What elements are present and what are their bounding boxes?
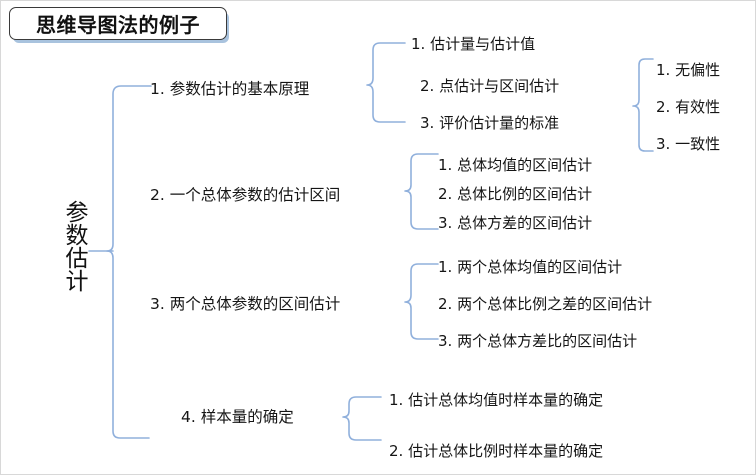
branch-2-child-2[interactable]: 2. 总体比例的区间估计 — [438, 183, 592, 204]
branch-4-child-1[interactable]: 1. 估计总体均值时样本量的确定 — [389, 389, 603, 410]
branch-4-bracket — [343, 397, 381, 440]
main-bracket — [107, 86, 151, 438]
diagram-title-card: 思维导图法的例子 — [9, 7, 227, 40]
branch-1-bracket — [367, 43, 405, 122]
page-title: 思维导图法的例子 — [36, 9, 200, 38]
branch-4-child-2[interactable]: 2. 估计总体比例时样本量的确定 — [389, 440, 603, 461]
mindmap-canvas: 思维导图法的例子 参数估计 1. 参数估计的基本原理 2. 一个总体参数的估计区… — [0, 0, 756, 475]
branch-label-3[interactable]: 3. 两个总体参数的区间估计 — [150, 292, 340, 314]
branch-1-3-child-2[interactable]: 2. 有效性 — [656, 96, 720, 117]
branch-2-bracket — [405, 154, 438, 229]
branch-1-3-child-3[interactable]: 3. 一致性 — [656, 133, 720, 154]
branch-3-bracket — [405, 264, 438, 339]
branch-3-child-1[interactable]: 1. 两个总体均值的区间估计 — [438, 256, 622, 277]
branch-2-child-3[interactable]: 3. 总体方差的区间估计 — [438, 212, 592, 233]
branch-label-4[interactable]: 4. 样本量的确定 — [181, 405, 294, 427]
branch-3-child-2[interactable]: 2. 两个总体比例之差的区间估计 — [438, 293, 652, 314]
branch-2-child-1[interactable]: 1. 总体均值的区间估计 — [438, 154, 592, 175]
branch-1-child-2[interactable]: 2. 点估计与区间估计 — [420, 75, 559, 96]
branch-label-1[interactable]: 1. 参数估计的基本原理 — [150, 77, 309, 99]
branch-1-child-3[interactable]: 3. 评价估计量的标准 — [420, 112, 559, 133]
branch-1-3-child-1[interactable]: 1. 无偏性 — [656, 59, 720, 80]
branch-1-3-bracket — [633, 59, 653, 151]
branch-label-2[interactable]: 2. 一个总体参数的估计区间 — [150, 183, 340, 205]
connector-lines — [1, 1, 756, 475]
branch-3-child-3[interactable]: 3. 两个总体方差比的区间估计 — [438, 330, 637, 351]
branch-1-child-1[interactable]: 1. 估计量与估计值 — [411, 33, 535, 54]
root-node-label: 参数估计 — [47, 186, 87, 306]
